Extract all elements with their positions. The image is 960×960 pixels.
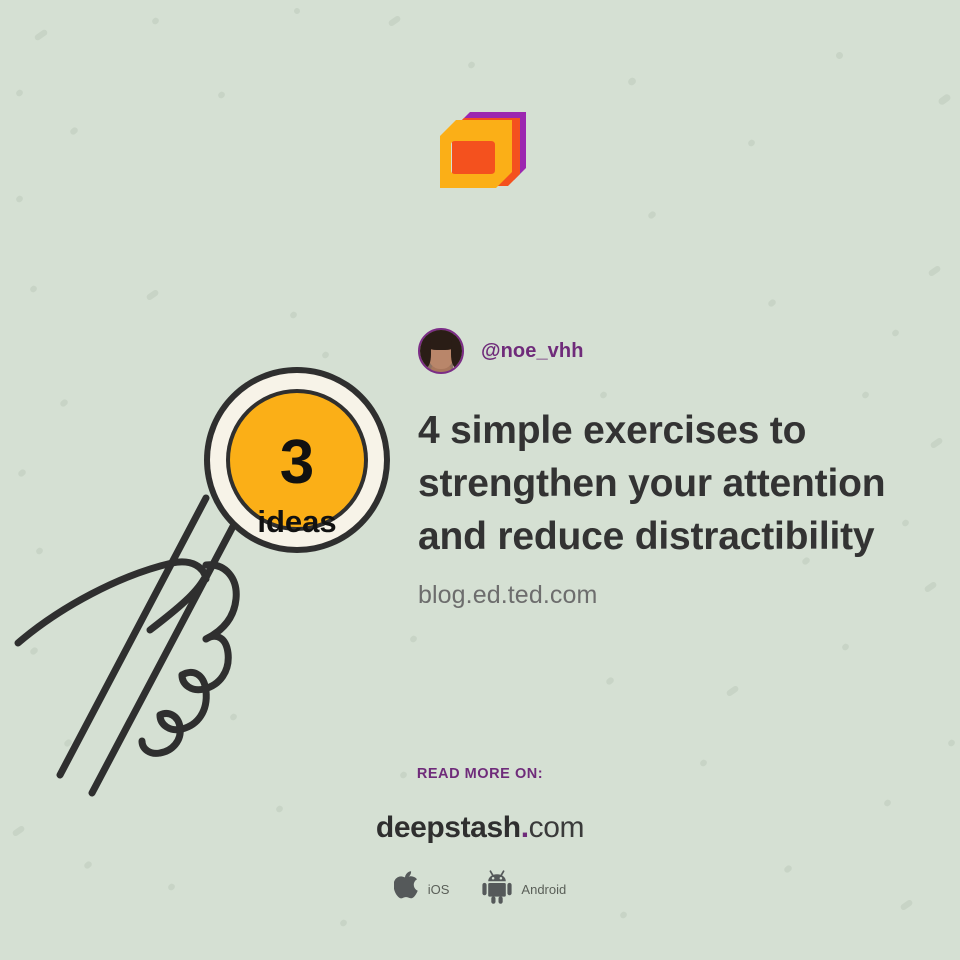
android-icon [481,870,513,909]
apple-icon [394,871,420,908]
android-store-link[interactable]: Android [481,870,566,909]
brand-tld: com [529,811,584,844]
confetti-dash [151,16,160,25]
confetti-dash [289,310,298,319]
brand-dot: . [521,811,529,844]
confetti-dash [835,51,845,61]
deepstash-logo [432,104,532,200]
confetti-dash [15,88,24,97]
confetti-dash [923,581,937,593]
confetti-dash [841,642,850,651]
app-store-links: iOS [0,870,960,909]
ios-label: iOS [428,882,450,897]
confetti-dash [947,738,956,747]
confetti-dash [767,298,777,308]
confetti-dash [34,29,49,42]
author-row[interactable]: @noe_vhh [418,328,584,374]
confetti-dash [293,7,301,15]
brand-wordmark[interactable]: deepstash.com [0,811,960,845]
confetti-dash [937,93,952,106]
deepstash-share-card: 3 ideas @noe_vhh 4 simple exercises to s… [0,0,960,960]
avatar-hair-left [418,334,431,368]
footer: READ MORE ON: deepstash.com iOS [0,766,960,909]
article-source[interactable]: blog.ed.ted.com [418,581,597,610]
article-title: 4 simple exercises to strengthen your at… [418,404,916,563]
confetti-dash [599,390,608,399]
magnifier-illustration: 3 ideas [0,355,420,825]
brand-name: deepstash [376,811,521,844]
confetti-dash [69,126,79,136]
confetti-dash [29,284,38,293]
confetti-dash [619,910,628,919]
badge-label: ideas [257,504,336,539]
confetti-dash [861,390,870,399]
confetti-dash [647,210,657,220]
author-avatar[interactable] [418,328,464,374]
confetti-dash [217,90,226,99]
confetti-dash [15,194,24,203]
read-more-label: READ MORE ON: [0,766,960,782]
confetti-dash [467,60,476,69]
confetti-dash [891,328,900,337]
ios-store-link[interactable]: iOS [394,871,450,908]
confetti-dash [627,76,638,87]
confetti-dash [145,289,159,301]
confetti-dash [339,918,348,927]
badge-count: 3 [280,428,314,497]
confetti-dash [747,138,756,147]
magnifier-handle-2 [60,498,206,775]
confetti-dash [387,15,401,27]
confetti-dash [725,685,739,697]
author-username[interactable]: @noe_vhh [481,340,584,363]
confetti-dash [929,437,943,449]
confetti-dash [927,265,941,277]
avatar-hair-right [451,334,464,368]
confetti-dash [605,676,615,686]
android-label: Android [521,882,566,897]
